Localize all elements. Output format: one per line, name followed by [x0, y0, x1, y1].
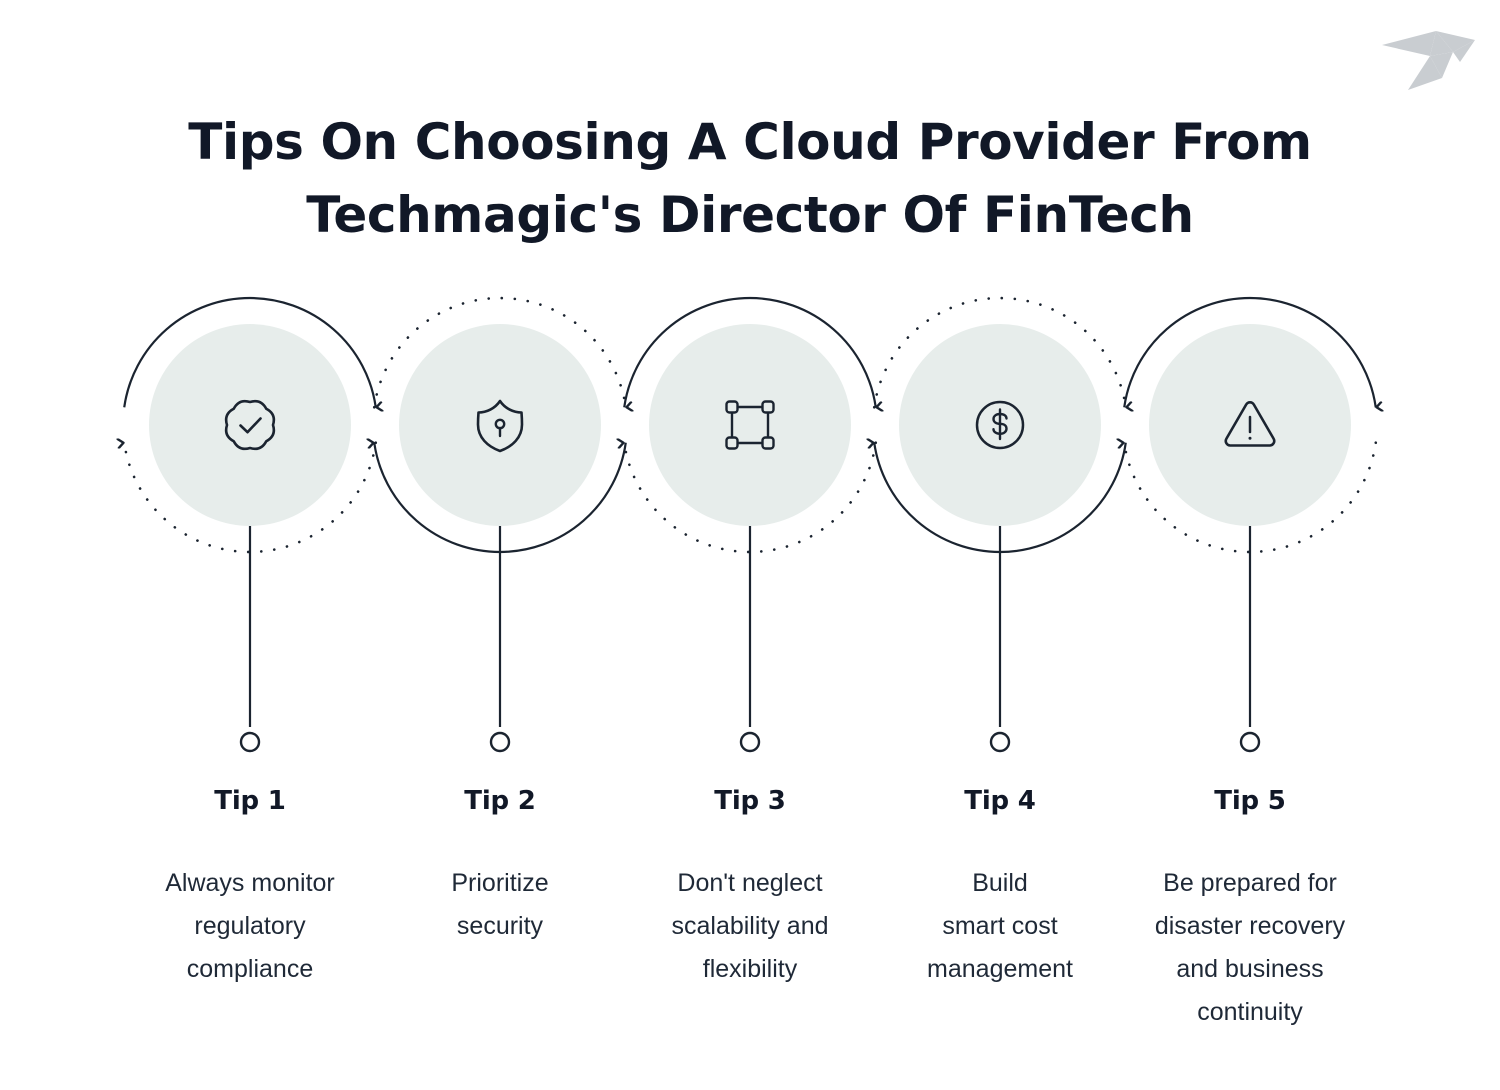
step-description-5: Be prepared for disaster recovery and bu…: [1125, 862, 1375, 1034]
connector-endpoint-dot: [991, 733, 1009, 751]
step-labels: Tip 1Always monitor regulatory complianc…: [0, 786, 1500, 1086]
step-label-4: Tip 4: [875, 786, 1125, 817]
step-column-5: Tip 5Be prepared for disaster recovery a…: [1125, 786, 1375, 1034]
step-node-2: [374, 298, 626, 751]
step-circle-background: [399, 324, 601, 526]
step-label-3: Tip 3: [625, 786, 875, 817]
step-description-2: Prioritize security: [375, 862, 625, 948]
connector-endpoint-dot: [1241, 733, 1259, 751]
step-circle-background: [649, 324, 851, 526]
step-circle-background: [149, 324, 351, 526]
step-description-4: Build smart cost management: [875, 862, 1125, 991]
step-column-3: Tip 3Don't neglect scalability and flexi…: [625, 786, 875, 991]
step-description-3: Don't neglect scalability and flexibilit…: [625, 862, 875, 991]
step-node-1: [124, 298, 376, 751]
step-node-4: [874, 298, 1126, 751]
connector-endpoint-dot: [741, 733, 759, 751]
step-label-5: Tip 5: [1125, 786, 1375, 817]
step-column-2: Tip 2Prioritize security: [375, 786, 625, 948]
step-label-1: Tip 1: [125, 786, 375, 817]
connector-endpoint-dot: [491, 733, 509, 751]
step-column-4: Tip 4Build smart cost management: [875, 786, 1125, 991]
step-column-1: Tip 1Always monitor regulatory complianc…: [125, 786, 375, 991]
step-description-1: Always monitor regulatory compliance: [125, 862, 375, 991]
step-node-5: [1124, 298, 1376, 751]
step-label-2: Tip 2: [375, 786, 625, 817]
step-node-3: [624, 298, 876, 751]
connector-endpoint-dot: [241, 733, 259, 751]
